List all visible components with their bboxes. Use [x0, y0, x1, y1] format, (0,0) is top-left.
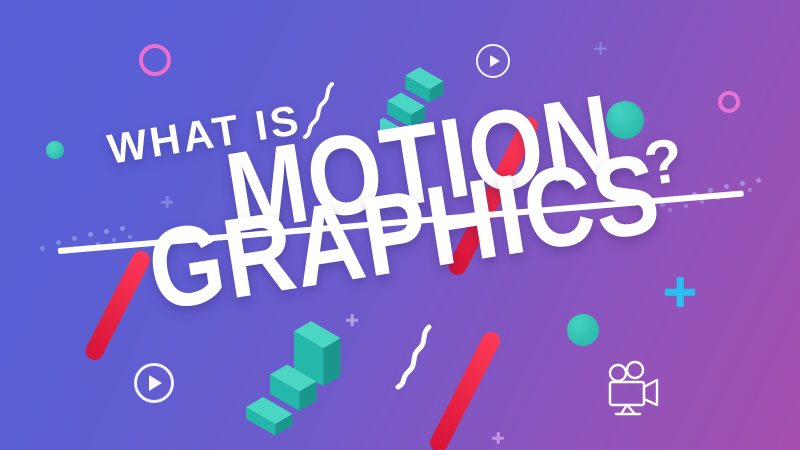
headline-line-graphics: GRAPHICS [140, 128, 669, 337]
title-card-canvas: WHAT IS MOTION GRAPHICS ? [0, 0, 800, 450]
stair-top-icon [380, 66, 450, 148]
play-button-bottom-icon[interactable] [134, 363, 174, 403]
play-button-top-icon[interactable] [476, 44, 510, 78]
headline-line-what: WHAT IS [104, 96, 304, 174]
teal-dot-left-icon [46, 141, 64, 159]
movie-camera-icon [602, 360, 666, 418]
red-bar-left [83, 248, 154, 363]
play-triangle-icon [490, 55, 500, 67]
stair-bottom-icon [242, 318, 360, 438]
faint-plus-top-icon [594, 42, 607, 55]
pink-ring-small-icon [718, 91, 740, 113]
play-triangle-icon [149, 375, 162, 391]
pink-ring-large-icon [139, 44, 171, 76]
red-bar-top [446, 114, 541, 278]
teal-ball-lower-icon [567, 314, 599, 346]
cyan-plus-icon [665, 277, 695, 307]
squiggle-bottom-icon [384, 322, 436, 392]
squiggle-top-icon [292, 80, 338, 140]
faint-plus-bottom-icon [492, 432, 504, 444]
teal-ball-upper-icon [606, 101, 644, 139]
faint-plus-mid-icon [161, 196, 173, 208]
